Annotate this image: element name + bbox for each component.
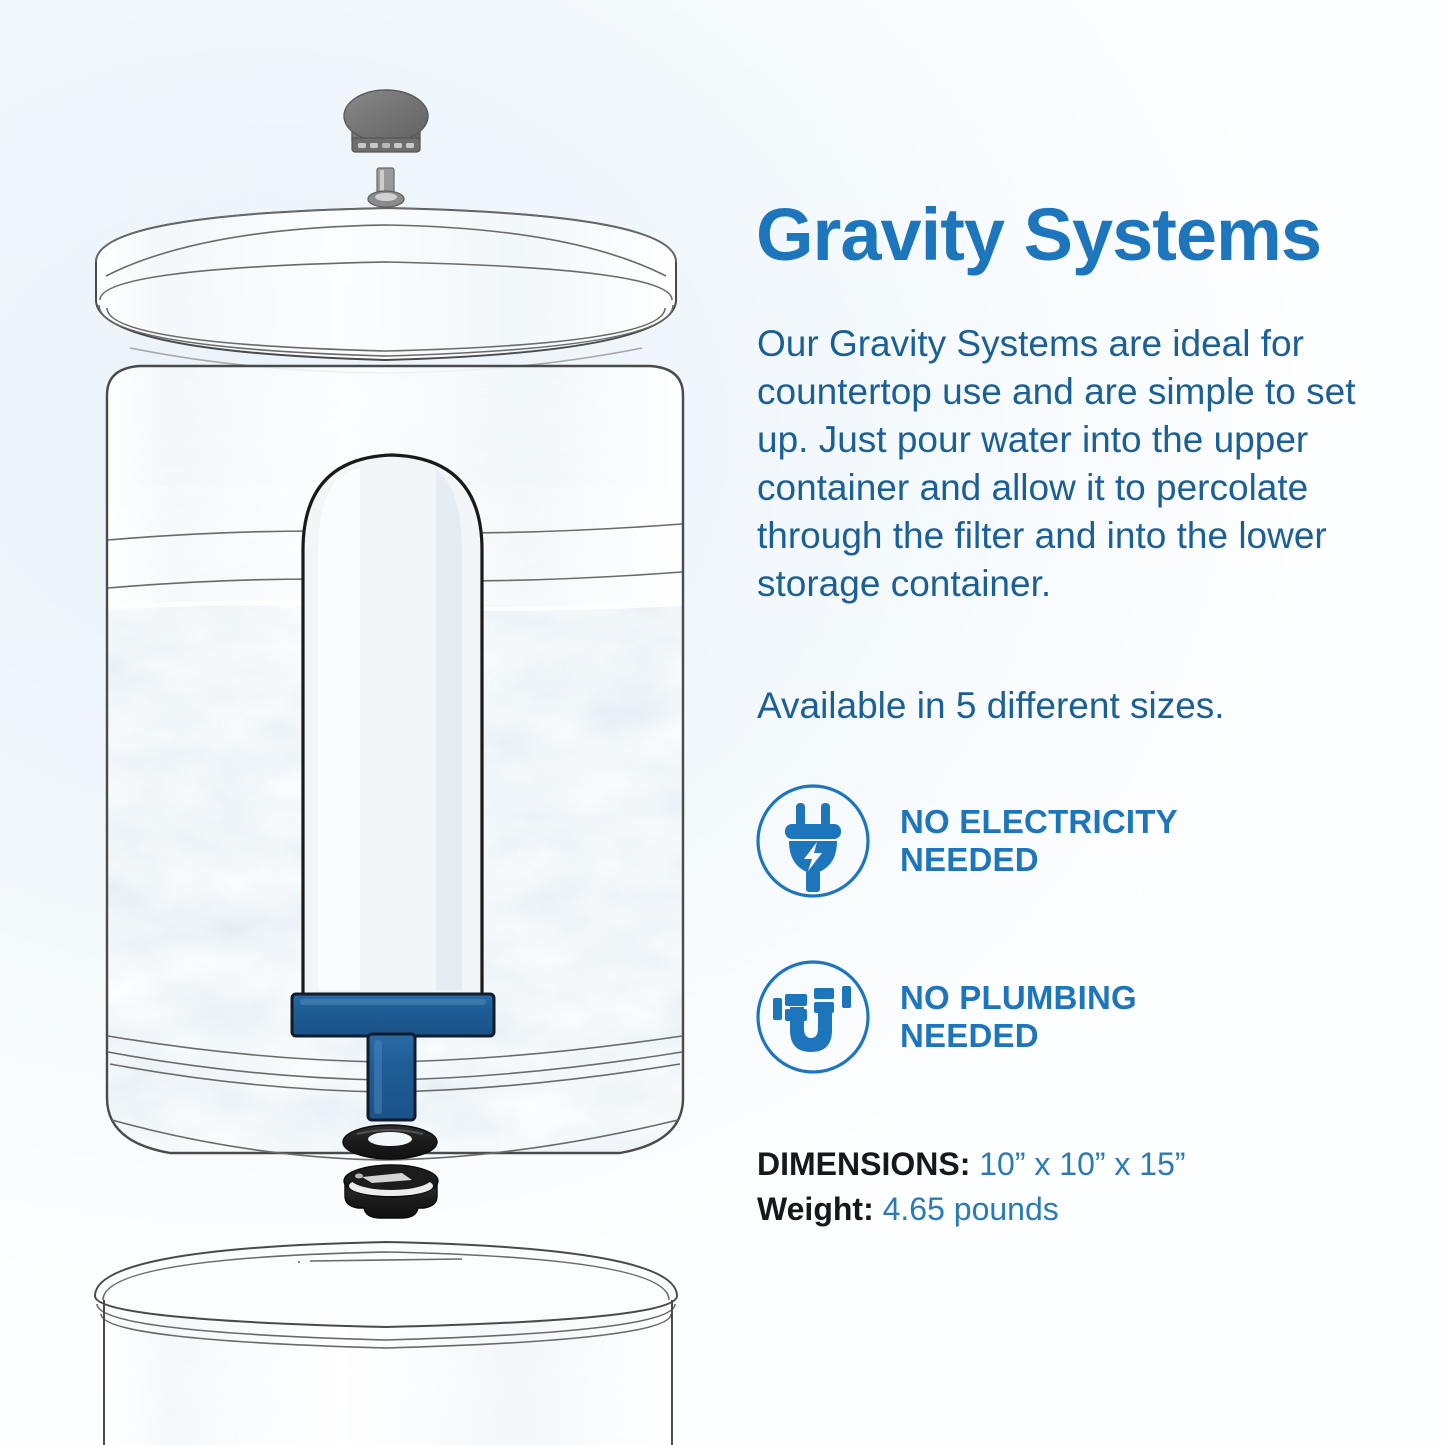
filter-base-group	[292, 994, 494, 1036]
filter-candle-highlight	[318, 468, 360, 990]
dimensions-value: 10” x 10” x 15”	[979, 1146, 1185, 1182]
sealing-washer-hole	[368, 1132, 412, 1146]
info-panel: Gravity Systems Our Gravity Systems are …	[748, 0, 1445, 1445]
lid-knob-group	[344, 90, 428, 152]
sealing-washer-group	[343, 1125, 437, 1159]
filter-base-highlight	[300, 999, 486, 1005]
pipe-trap-icon	[754, 958, 872, 1076]
filter-stem-group	[368, 1034, 415, 1120]
page-title: Gravity Systems	[756, 198, 1396, 272]
feature-no-electricity: NO ELECTRICITY NEEDED	[754, 782, 1374, 900]
weight-label: Weight:	[757, 1191, 874, 1227]
feature-label: NO ELECTRICITY NEEDED	[900, 803, 1178, 880]
infographic-page: Gravity Systems Our Gravity Systems are …	[0, 0, 1445, 1445]
power-plug-icon	[754, 782, 872, 900]
wing-nut-group	[344, 1165, 438, 1218]
lid-knob-top	[344, 90, 428, 142]
specifications: DIMENSIONS: 10” x 10” x 15” Weight: 4.65…	[757, 1142, 1397, 1233]
weight-value: 4.65 pounds	[883, 1191, 1059, 1227]
filter-candle-shade	[436, 470, 462, 990]
lid-group	[96, 208, 676, 373]
availability-text: Available in 5 different sizes.	[757, 682, 1367, 730]
weight-row: Weight: 4.65 pounds	[757, 1187, 1397, 1232]
feature-label: NO PLUMBING NEEDED	[900, 979, 1137, 1056]
lower-container-top-ellipse	[95, 1242, 677, 1327]
dimensions-label: DIMENSIONS:	[757, 1146, 970, 1182]
product-illustration	[0, 0, 740, 1445]
description-paragraph: Our Gravity Systems are ideal for counte…	[757, 320, 1367, 609]
feature-no-plumbing: NO PLUMBING NEEDED	[754, 958, 1374, 1076]
filter-candle-group	[303, 455, 482, 996]
knob-bolt-group	[368, 168, 404, 207]
dimensions-row: DIMENSIONS: 10” x 10” x 15”	[757, 1142, 1397, 1187]
lower-storage-container-group	[95, 1242, 677, 1445]
